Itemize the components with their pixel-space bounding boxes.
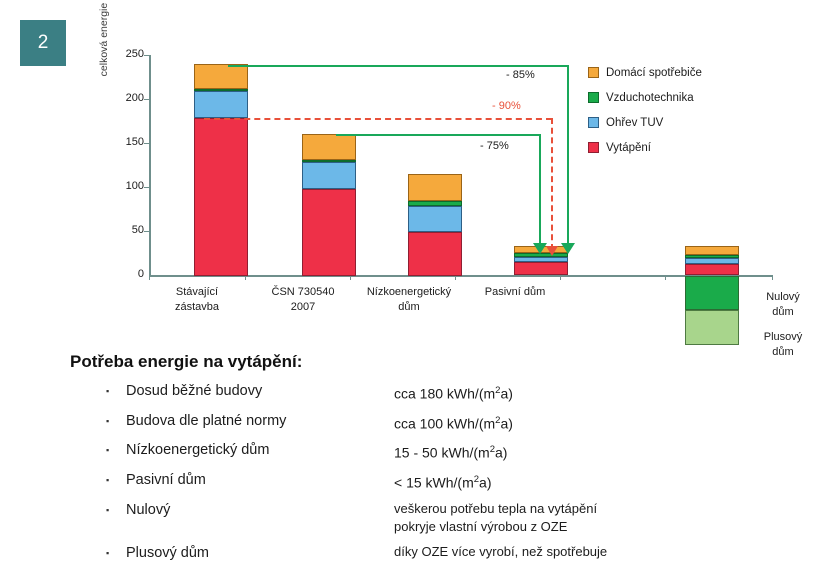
legend-item-vzduchotechnika: Vzduchotechnika (588, 85, 808, 110)
y-tick-250: 250 (110, 48, 144, 60)
annotation-90-label: - 90% (492, 100, 521, 112)
connector-85-vertical (567, 65, 569, 247)
x-label-line-2: 2007 (243, 300, 363, 315)
side-label-line-1: Nulový (748, 290, 814, 305)
connector-90-vertical (551, 118, 553, 250)
x-tickmark-5 (665, 275, 666, 280)
legend-item-ohrev-tuv: Ohřev TUV (588, 110, 808, 135)
arrowhead-75 (533, 243, 547, 254)
segment-vytapeni (194, 118, 248, 276)
side-label-line-1: Plusový (748, 330, 814, 345)
segment-domaci-spotrebice (194, 64, 248, 89)
text-block: Potřeba energie na vytápění: ▪ Dosud běž… (70, 352, 800, 570)
bullet-icon: ▪ (70, 411, 126, 431)
legend-label: Domácí spotřebiče (606, 67, 702, 79)
annotation-75-label: - 75% (480, 140, 509, 152)
list-item: ▪ Plusový dům díky OZE více vyrobí, než … (70, 543, 800, 563)
connector-75-horizontal (336, 134, 541, 136)
list-item-label: Nulový (126, 500, 394, 520)
list-item-label: Pasivní dům (126, 470, 394, 490)
x-tickmark-4 (560, 275, 561, 280)
y-tick-100: 100 (110, 180, 144, 192)
legend-item-domaci-spotrebice: Domácí spotřebiče (588, 60, 808, 85)
bar-csn-730540-2007 (302, 134, 356, 275)
legend-swatch-icon (588, 117, 599, 128)
legend-label: Vzduchotechnika (606, 92, 694, 104)
bullet-icon: ▪ (70, 543, 126, 563)
list-item-value-line-2: pokryje vlastní výrobou z OZE (394, 518, 597, 536)
x-tickmark-6 (772, 275, 773, 280)
text-block-title: Potřeba energie na vytápění: (70, 352, 800, 372)
y-axis-ticks: 250 200 150 100 50 0 (100, 38, 144, 278)
legend-swatch-icon (588, 142, 599, 153)
connector-90-horizontal (204, 118, 552, 120)
bullet-icon: ▪ (70, 500, 126, 520)
y-tick-0: 0 (110, 268, 144, 280)
list-item: ▪ Pasivní dům < 15 kWh/(m2a) (70, 470, 800, 493)
connector-85-horizontal (228, 65, 569, 67)
list-item-value: < 15 kWh/(m2a) (394, 470, 492, 493)
arrowhead-90 (546, 246, 558, 256)
segment-vytapeni (514, 262, 568, 275)
bar-stavajici-zastavba (194, 64, 248, 275)
segment-domaci-spotrebice (685, 246, 739, 255)
x-label-line-2: dům (349, 300, 469, 315)
segment-plusovy-dum (685, 310, 739, 345)
slide-number-badge: 2 (20, 20, 66, 66)
bar-nizkoenergeticky-dum (408, 174, 462, 275)
x-label-line-1: Pasivní dům (455, 285, 575, 300)
x-label-line-2: zástavba (137, 300, 257, 315)
list-item: ▪ Dosud běžné budovy cca 180 kWh/(m2a) (70, 381, 800, 404)
segment-domaci-spotrebice (408, 174, 462, 201)
legend-label: Vytápění (606, 142, 651, 154)
legend-item-vytapeni: Vytápění (588, 135, 808, 160)
x-label-stavajici-zastavba: Stávající zástavba (137, 285, 257, 315)
arrowhead-85 (561, 243, 575, 254)
list-item-value: díky OZE více vyrobí, než spotřebuje (394, 543, 607, 561)
x-label-line-1: ČSN 730540 (243, 285, 363, 300)
list-item-value: cca 100 kWh/(m2a) (394, 411, 513, 434)
y-tick-200: 200 (110, 92, 144, 104)
annotation-85-label: - 85% (506, 69, 535, 81)
list-item-label: Dosud běžné budovy (126, 381, 394, 401)
bullet-icon: ▪ (70, 381, 126, 401)
list-item-value: 15 - 50 kWh/(m2a) (394, 440, 507, 463)
x-label-csn-730540-2007: ČSN 730540 2007 (243, 285, 363, 315)
x-label-line-1: Stávající (137, 285, 257, 300)
segment-ohrev-tuv (302, 162, 356, 188)
side-label-nulovy-dum: Nulový dům (748, 290, 814, 320)
list-item: ▪ Nízkoenergetický dům 15 - 50 kWh/(m2a) (70, 440, 800, 463)
list-item-label: Budova dle platné normy (126, 411, 394, 431)
segment-ohrev-tuv (194, 91, 248, 117)
chart-legend: Domácí spotřebiče Vzduchotechnika Ohřev … (588, 60, 808, 160)
segment-domaci-spotrebice (302, 134, 356, 160)
legend-swatch-icon (588, 92, 599, 103)
segment-nulovy-dum (685, 276, 739, 310)
legend-swatch-icon (588, 67, 599, 78)
x-label-pasivni-dum: Pasivní dům (455, 285, 575, 300)
legend-label: Ohřev TUV (606, 117, 663, 129)
y-tick-50: 50 (110, 224, 144, 236)
slide-number: 2 (38, 32, 49, 54)
segment-vytapeni (685, 264, 739, 275)
x-label-line-1: Nízkoenergetický (349, 285, 469, 300)
x-label-nizkoenergeticky-dum: Nízkoenergetický dům (349, 285, 469, 315)
connector-75-vertical (539, 134, 541, 247)
list-item-value-line-1: veškerou potřebu tepla na vytápění (394, 500, 597, 518)
x-tickmark-0 (149, 275, 150, 280)
bar-nulovy-plusovy-dum (685, 246, 739, 275)
list-item-label: Plusový dům (126, 543, 394, 563)
bullet-icon: ▪ (70, 470, 126, 490)
list-item: ▪ Budova dle platné normy cca 100 kWh/(m… (70, 411, 800, 434)
below-axis-bar (685, 276, 739, 345)
segment-vytapeni (408, 232, 462, 276)
list-item-value: veškerou potřebu tepla na vytápění pokry… (394, 500, 597, 536)
y-tick-150: 150 (110, 136, 144, 148)
segment-ohrev-tuv (408, 206, 462, 232)
side-label-line-2: dům (748, 305, 814, 320)
slide: 2 celková energie [kWh/m2a] 250 200 150 … (0, 0, 814, 573)
bullet-icon: ▪ (70, 440, 126, 460)
list-item-value: cca 180 kWh/(m2a) (394, 381, 513, 404)
list-item: ▪ Nulový veškerou potřebu tepla na vytáp… (70, 500, 800, 536)
list-item-label: Nízkoenergetický dům (126, 440, 394, 460)
segment-vytapeni (302, 189, 356, 276)
